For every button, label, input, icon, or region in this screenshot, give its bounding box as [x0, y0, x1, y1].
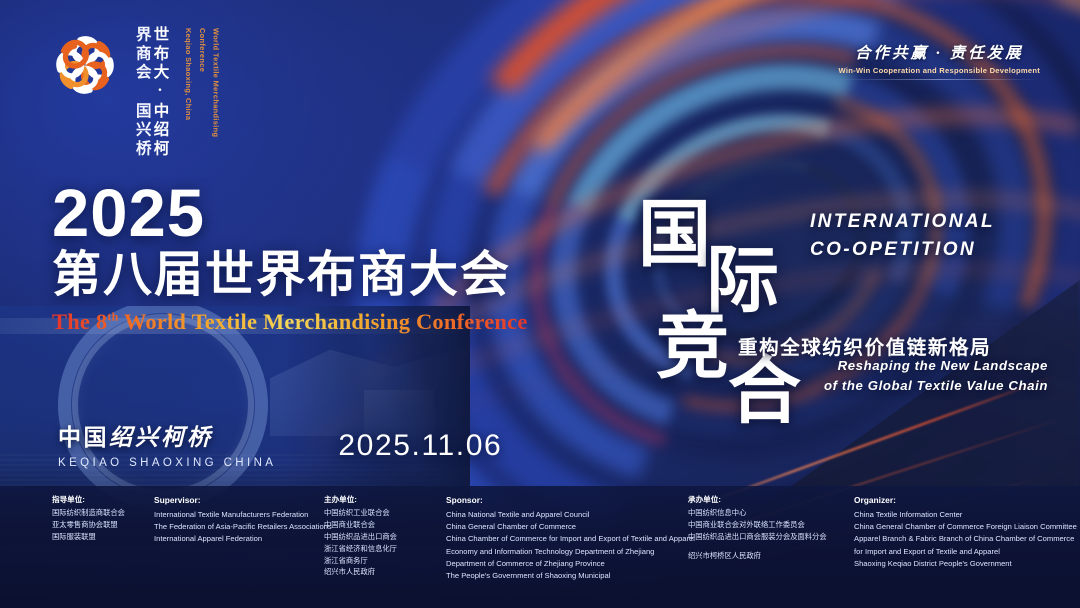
credits-item: 国际纺织制造商联合会 [52, 507, 140, 519]
logo-chinese-name: 世布大·中绍柯 界商会 国兴桥 [133, 26, 167, 158]
credits-item: International Apparel Federation [154, 533, 324, 545]
credits-heading: Sponsor: [446, 494, 688, 508]
credits-item: Economy and Information Technology Depar… [446, 546, 688, 558]
conference-date: 2025.11.06 [338, 429, 502, 469]
credits-item: 亚太零售商协会联盟 [52, 519, 140, 531]
logo-cn-column-1: 世布大·中绍柯 [151, 26, 168, 158]
credits-item: 中国纺织信息中心 [688, 507, 840, 519]
rosette-ribbon-emblem [48, 26, 122, 104]
logo-english-name: World Textile Merchandising Conference K… [181, 28, 222, 137]
credits-item: 绍兴市柯桥区人民政府 [688, 550, 840, 562]
theme-subtitle-english: Reshaping the New Landscape of the Globa… [738, 356, 1048, 397]
credits-supervisor-cn: 指导单位: 国际纺织制造商联合会 亚太零售商协会联盟 国际服装联盟 [52, 494, 140, 543]
credits-item: Apparel Branch & Fabric Branch of China … [854, 533, 1064, 545]
credits-heading: 主办单位: [324, 494, 428, 506]
title-chinese: 第八届世界布商大会 [52, 250, 528, 302]
credits-heading: 指导单位: [52, 494, 140, 506]
location-cn-prefix: 中国 [58, 425, 109, 450]
location-english: KEQIAO SHAOXING CHINA [58, 457, 276, 469]
credits-item: China Textile Information Center [854, 509, 1064, 521]
credits-item: 绍兴市人民政府 [324, 566, 428, 578]
credits-organizer-en: Organizer: China Textile Information Cen… [854, 494, 1064, 570]
credits-item: The Federation of Asia-Pacific Retailers… [154, 521, 324, 533]
slogan-english: Win-Win Cooperation and Responsible Deve… [839, 66, 1040, 75]
calligraphy-char-3: 竞 [656, 314, 729, 380]
credits-item: China Chamber of Commerce for Import and… [446, 533, 688, 545]
location-group: 中国绍兴柯桥 KEQIAO SHAOXING CHINA [58, 418, 276, 469]
conference-logo-block: 世布大·中绍柯 界商会 国兴桥 World Textile Merchandis… [48, 26, 223, 158]
credits-item: 中国商业联合会 [324, 519, 428, 531]
main-title-block: 2025 第八届世界布商大会 The 8th World Textile Mer… [52, 182, 528, 335]
credits-item: for Import and Export of Textile and App… [854, 546, 1064, 558]
credits-heading: Supervisor: [154, 494, 324, 508]
title-year: 2025 [52, 182, 528, 246]
title-english-rest: World Textile Merchandising Conference [118, 309, 527, 334]
credits-heading: Organizer: [854, 494, 1064, 508]
title-english-ordinal: th [107, 310, 118, 324]
credits-heading: 承办单位: [688, 494, 840, 506]
location-chinese: 中国绍兴柯桥 [58, 418, 276, 452]
credits-sponsor-en: Sponsor: China National Textile and Appa… [446, 494, 688, 582]
logo-cn-column-2: 界商会 国兴桥 [133, 26, 150, 158]
theme-block: 国 际 竞 合 INTERNATIONAL CO-OPETITION 重构全球纺… [628, 196, 1048, 396]
credits-item: The People's Government of Shaoxing Muni… [446, 570, 688, 582]
theme-english-title: INTERNATIONAL CO-OPETITION [810, 208, 995, 263]
credits-item: China General Chamber of Commerce Foreig… [854, 521, 1064, 533]
credits-item: Department of Commerce of Zhejiang Provi… [446, 558, 688, 570]
credits-item: Shaoxing Keqiao District People's Govern… [854, 558, 1064, 570]
credits-item: 中国纺织品进出口商会 [324, 531, 428, 543]
credits-supervisor-en: Supervisor: International Textile Manufa… [154, 494, 324, 546]
footer-credits: 指导单位: 国际纺织制造商联合会 亚太零售商协会联盟 国际服装联盟 Superv… [0, 486, 1080, 608]
conference-poster: 世布大·中绍柯 界商会 国兴桥 World Textile Merchandis… [0, 0, 1080, 608]
credits-item: International Textile Manufacturers Fede… [154, 509, 324, 521]
credits-columns: 指导单位: 国际纺织制造商联合会 亚太零售商协会联盟 国际服装联盟 Superv… [52, 494, 1064, 582]
title-english: The 8th World Textile Merchandising Conf… [52, 309, 528, 335]
credits-spacer [688, 543, 840, 550]
credits-sponsor-cn: 主办单位: 中国纺织工业联合会 中国商业联合会 中国纺织品进出口商会 浙江省经济… [324, 494, 428, 578]
conference-slogan: 合作共赢 · 责任发展 Win-Win Cooperation and Resp… [839, 41, 1040, 80]
slogan-divider [839, 79, 1040, 80]
credits-item: 浙江省经济和信息化厅 [324, 543, 428, 555]
location-date-block: 中国绍兴柯桥 KEQIAO SHAOXING CHINA 2025.11.06 [58, 418, 502, 469]
credits-item: China General Chamber of Commerce [446, 521, 688, 533]
calligraphy-char-1: 国 [638, 202, 711, 268]
credits-item: 中国纺织品进出口商会服装分会及面料分会 [688, 531, 840, 543]
title-english-prefix: The 8 [52, 309, 107, 334]
credits-item: China National Textile and Apparel Counc… [446, 509, 688, 521]
credits-item: 国际服装联盟 [52, 531, 140, 543]
calligraphy-char-2: 际 [706, 248, 779, 314]
credits-item: 中国商业联合会对外联络工作委员会 [688, 519, 840, 531]
credits-item: 中国纺织工业联合会 [324, 507, 428, 519]
credits-item: 浙江省商务厅 [324, 555, 428, 567]
slogan-chinese: 合作共赢 · 责任发展 [839, 41, 1040, 63]
credits-organizer-cn: 承办单位: 中国纺织信息中心 中国商业联合会对外联络工作委员会 中国纺织品进出口… [688, 494, 840, 562]
location-cn-script: 绍兴柯桥 [109, 425, 213, 450]
